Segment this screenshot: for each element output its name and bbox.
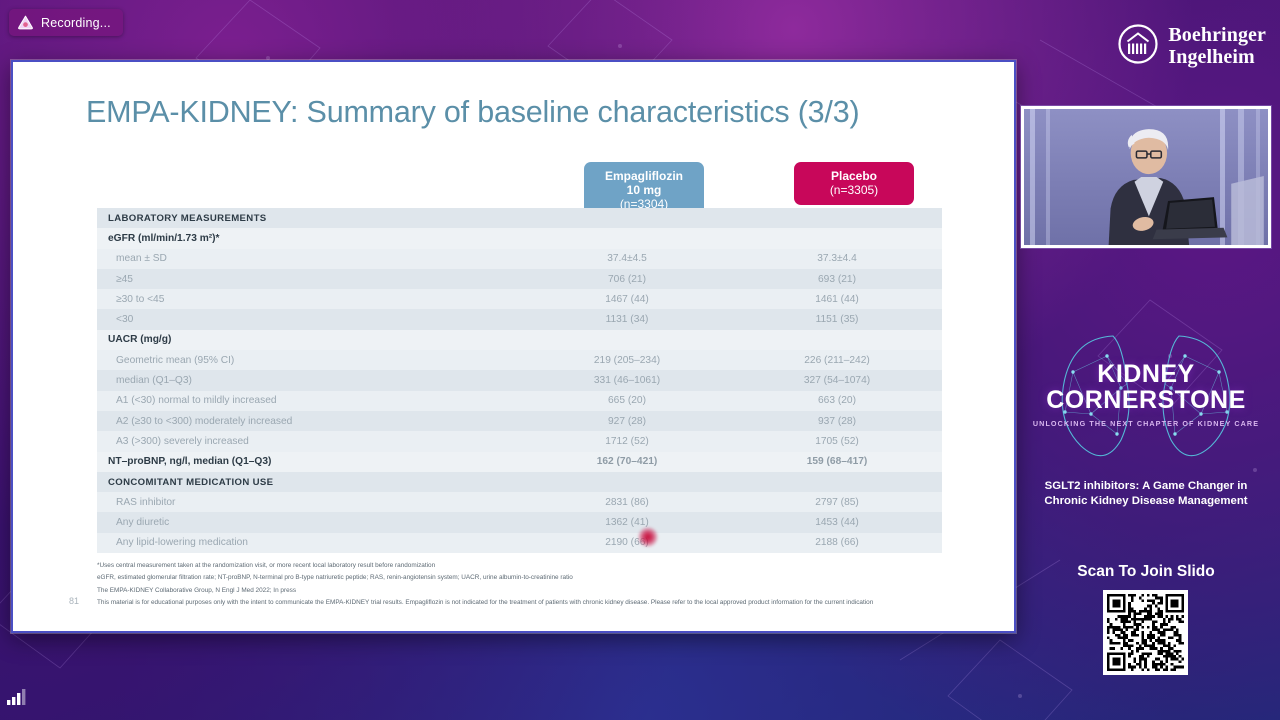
- table-row: A2 (≥30 to <300) moderately increased927…: [97, 411, 942, 431]
- column-header-name: Placebo: [794, 169, 914, 183]
- cell-empagliflozin: 927 (28): [522, 416, 732, 427]
- video-inner: [1024, 109, 1268, 245]
- laser-pointer-dot: [638, 527, 658, 547]
- slido-label: Scan To Join Slido: [1021, 563, 1271, 581]
- table-row: NT–proBNP, ng/l, median (Q1–Q3)162 (70–4…: [97, 452, 942, 472]
- cell-placebo: 1151 (35): [732, 314, 942, 325]
- table-row: RAS inhibitor2831 (86)2797 (85): [97, 492, 942, 512]
- cell-placebo: 693 (21): [732, 274, 942, 285]
- row-label: Geometric mean (95% CI): [97, 355, 522, 366]
- column-header-placebo: Placebo (n=3305): [794, 162, 914, 205]
- table-row: ≥45706 (21)693 (21): [97, 269, 942, 289]
- brand-line-2: Ingelheim: [1168, 47, 1266, 69]
- cell-placebo: 1461 (44): [732, 294, 942, 305]
- cell-empagliflozin: 162 (70–421): [522, 456, 732, 467]
- row-label: mean ± SD: [97, 253, 522, 264]
- boehringer-temple-icon: [1118, 24, 1158, 69]
- row-label: Any lipid-lowering medication: [97, 537, 522, 548]
- cell-placebo: 2188 (66): [732, 537, 942, 548]
- presentation-slide: EMPA-KIDNEY: Summary of baseline charact…: [11, 60, 1016, 633]
- recording-indicator[interactable]: Recording...: [9, 9, 123, 36]
- row-label: A3 (>300) severely increased: [97, 436, 522, 447]
- talk-title: SGLT2 inhibitors: A Game Changer in Chro…: [1021, 479, 1271, 509]
- footnote-line: This material is for educational purpose…: [97, 597, 947, 609]
- boehringer-ingelheim-logo: Boehringer Ingelheim: [1118, 24, 1266, 69]
- column-header-n: (n=3305): [794, 183, 914, 197]
- table-row: ≥30 to <451467 (44)1461 (44): [97, 289, 942, 309]
- cell-empagliflozin: 2831 (86): [522, 497, 732, 508]
- cell-empagliflozin: 37.4±4.5: [522, 253, 732, 264]
- cell-placebo: 1705 (52): [732, 436, 942, 447]
- cell-placebo: 2797 (85): [732, 497, 942, 508]
- cell-empagliflozin: 665 (20): [522, 395, 732, 406]
- row-label: Any diuretic: [97, 517, 522, 528]
- row-label: CONCOMITANT MEDICATION USE: [97, 477, 522, 488]
- qr-code-icon[interactable]: [1103, 590, 1188, 675]
- cell-empagliflozin: 1712 (52): [522, 436, 732, 447]
- signal-strength-icon: [6, 688, 28, 711]
- column-header-dose: 10 mg: [584, 183, 704, 197]
- cell-placebo: 159 (68–417): [732, 456, 942, 467]
- page-title: EMPA-KIDNEY: Summary of baseline charact…: [86, 95, 859, 130]
- cell-placebo: 1453 (44): [732, 517, 942, 528]
- cell-placebo: 327 (54–1074): [732, 375, 942, 386]
- row-label: eGFR (ml/min/1.73 m²)*: [97, 233, 522, 244]
- table-row: eGFR (ml/min/1.73 m²)*: [97, 228, 942, 248]
- row-label: A1 (<30) normal to mildly increased: [97, 395, 522, 406]
- table-row: Any diuretic1362 (41)1453 (44): [97, 512, 942, 532]
- kidney-cornerstone-logo: KIDNEY CORNERSTONE UNLOCKING THE NEXT CH…: [1021, 322, 1271, 462]
- row-label: LABORATORY MEASUREMENTS: [97, 213, 522, 224]
- cell-placebo: 937 (28): [732, 416, 942, 427]
- table-row: median (Q1–Q3)331 (46–1061)327 (54–1074): [97, 370, 942, 390]
- boehringer-wordmark: Boehringer Ingelheim: [1168, 25, 1266, 68]
- row-label: NT–proBNP, ng/l, median (Q1–Q3): [97, 456, 522, 467]
- cell-empagliflozin: 706 (21): [522, 274, 732, 285]
- cell-empagliflozin: 1362 (41): [522, 517, 732, 528]
- table-row: CONCOMITANT MEDICATION USE: [97, 472, 942, 492]
- cell-empagliflozin: 219 (205–234): [522, 355, 732, 366]
- table-row: UACR (mg/g): [97, 330, 942, 350]
- column-header-name: Empagliflozin: [584, 169, 704, 183]
- brand-line-1: Boehringer: [1168, 25, 1266, 47]
- row-label: A2 (≥30 to <300) moderately increased: [97, 416, 522, 427]
- row-label: <30: [97, 314, 522, 325]
- row-label: ≥45: [97, 274, 522, 285]
- cell-placebo: 226 (211–242): [732, 355, 942, 366]
- cloud-record-icon: [17, 14, 34, 31]
- cell-empagliflozin: 331 (46–1061): [522, 375, 732, 386]
- footnotes: *Uses central measurement taken at the r…: [97, 560, 947, 609]
- footnote-line: eGFR, estimated glomerular filtration ra…: [97, 572, 947, 584]
- cell-empagliflozin: 1131 (34): [522, 314, 732, 325]
- table-row: A3 (>300) severely increased1712 (52)170…: [97, 431, 942, 451]
- row-label: UACR (mg/g): [97, 334, 522, 345]
- baseline-characteristics-table: LABORATORY MEASUREMENTSeGFR (ml/min/1.73…: [97, 208, 942, 553]
- talk-title-line2: Chronic Kidney Disease Management: [1021, 494, 1271, 509]
- event-title: KIDNEY CORNERSTONE: [1021, 362, 1271, 413]
- row-label: ≥30 to <45: [97, 294, 522, 305]
- slide-number: 81: [69, 596, 79, 606]
- table-row: Any lipid-lowering medication2190 (66)21…: [97, 533, 942, 553]
- footnote-line: *Uses central measurement taken at the r…: [97, 560, 947, 572]
- cell-placebo: 663 (20): [732, 395, 942, 406]
- event-title-line2: CORNERSTONE: [1021, 388, 1271, 414]
- speaker-video-feed[interactable]: [1021, 106, 1271, 248]
- talk-title-line1: SGLT2 inhibitors: A Game Changer in: [1021, 479, 1271, 494]
- cell-placebo: 37.3±4.4: [732, 253, 942, 264]
- recording-label: Recording...: [41, 16, 111, 30]
- row-label: RAS inhibitor: [97, 497, 522, 508]
- table-row: Geometric mean (95% CI)219 (205–234)226 …: [97, 350, 942, 370]
- table-row: LABORATORY MEASUREMENTS: [97, 208, 942, 228]
- event-tagline: UNLOCKING THE NEXT CHAPTER OF KIDNEY CAR…: [1021, 419, 1271, 428]
- cell-empagliflozin: 1467 (44): [522, 294, 732, 305]
- event-title-line1: KIDNEY: [1021, 362, 1271, 388]
- table-row: mean ± SD37.4±4.537.3±4.4: [97, 249, 942, 269]
- screen-root: Recording... EMPA-KIDNEY: Summary of bas…: [0, 0, 1280, 720]
- cell-empagliflozin: 2190 (66): [522, 537, 732, 548]
- footnote-line: The EMPA-KIDNEY Collaborative Group, N E…: [97, 585, 947, 597]
- row-label: median (Q1–Q3): [97, 375, 522, 386]
- table-row: A1 (<30) normal to mildly increased665 (…: [97, 391, 942, 411]
- table-row: <301131 (34)1151 (35): [97, 309, 942, 329]
